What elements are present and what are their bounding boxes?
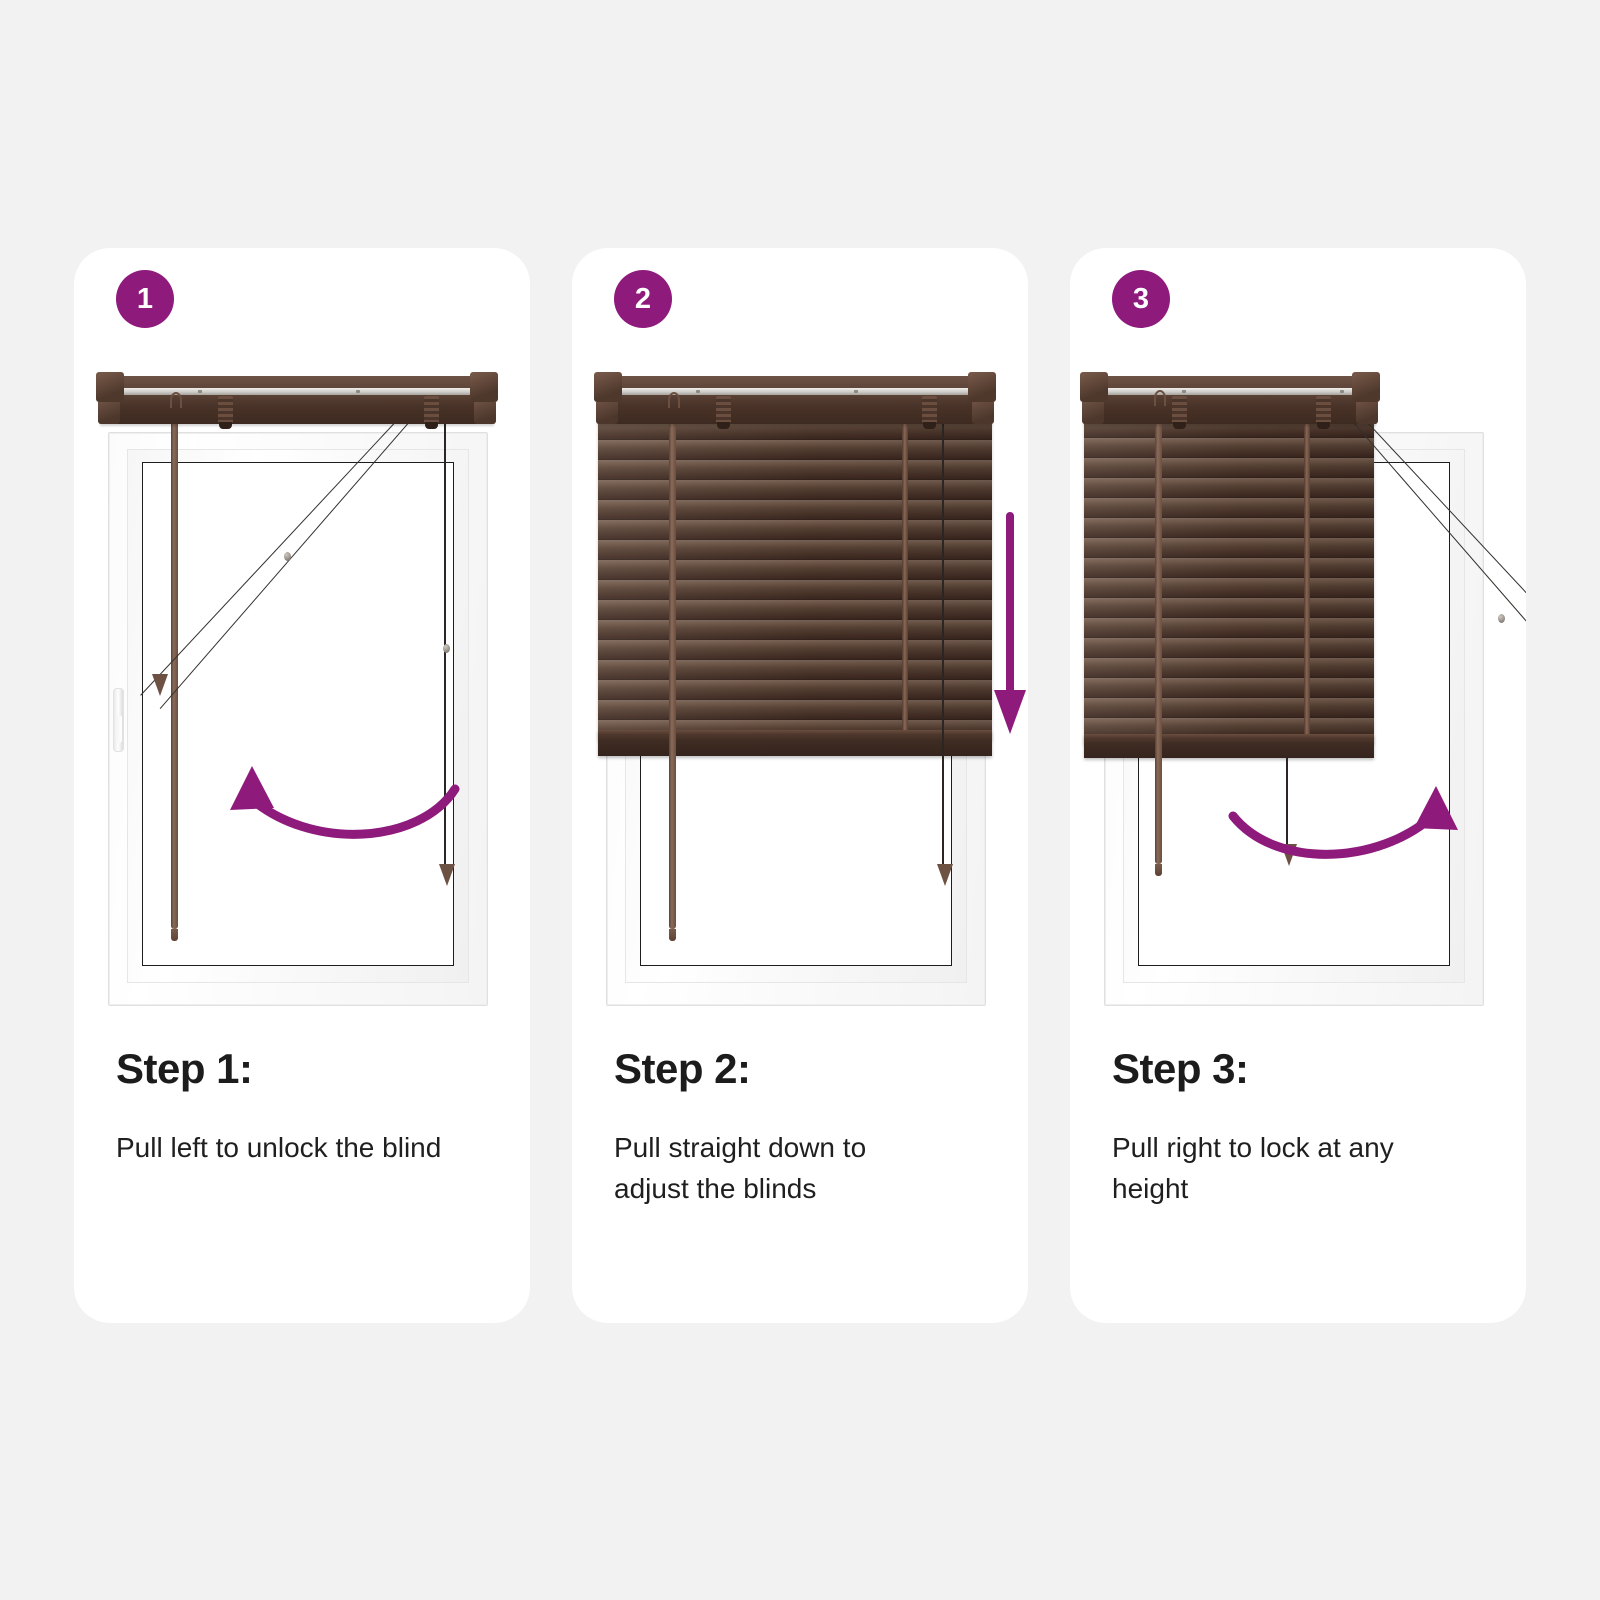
cord-bead-pulled [1498, 614, 1505, 623]
tilt-wand[interactable] [1155, 402, 1162, 864]
step-title: Step 1: [116, 1048, 494, 1090]
step-body: Pull left to unlock the blind [116, 1128, 446, 1169]
arrow-curve-right-icon [1218, 744, 1518, 874]
step-card-3: 3 [1070, 248, 1526, 1323]
arrow-down-icon [990, 512, 1028, 738]
blind-headrail [594, 368, 996, 430]
mounting-bracket-right [922, 396, 937, 423]
mounting-bracket-left [716, 396, 731, 423]
step-body: Pull right to lock at any height [1112, 1128, 1442, 1209]
blind-slats [1084, 398, 1374, 744]
step-title: Step 2: [614, 1048, 992, 1090]
step-badge-1: 1 [116, 270, 174, 328]
caption-step-2: Step 2: Pull straight down to adjust the… [614, 1048, 992, 1209]
tilt-rod [106, 388, 488, 395]
step-badge-3: 3 [1112, 270, 1170, 328]
tilt-wand-tip [1155, 864, 1162, 876]
mounting-bracket-left [218, 396, 233, 423]
tilt-wand-hook [668, 392, 680, 408]
blind-headrail [1080, 368, 1380, 430]
step-title: Step 3: [1112, 1048, 1490, 1090]
ladder-cord-right [1304, 398, 1310, 744]
caption-step-3: Step 3: Pull right to lock at any height [1112, 1048, 1490, 1209]
steps-board: 1 [0, 0, 1600, 1600]
blind-headrail [96, 368, 498, 430]
illustration-step-3 [1070, 344, 1526, 1024]
arrow-curve-left-icon [170, 724, 470, 854]
step-body: Pull straight down to adjust the blinds [614, 1128, 944, 1209]
step-badge-2: 2 [614, 270, 672, 328]
cord-tassel-right [439, 864, 455, 886]
cord-tassel-right [937, 864, 953, 886]
cord-bead [443, 644, 450, 653]
mounting-bracket-left [1172, 396, 1187, 423]
window-sash [127, 449, 469, 983]
tilt-rod [604, 388, 986, 395]
window-frame [108, 432, 488, 1006]
tilt-wand-tip [669, 929, 676, 941]
ladder-cord-right [902, 400, 908, 740]
step-card-2: 2 [572, 248, 1028, 1323]
cord-tassel-pulled [152, 674, 168, 696]
illustration-step-2 [572, 344, 1028, 1024]
illustration-step-1 [74, 344, 530, 1024]
blind-bottom-rail [598, 730, 992, 756]
step-card-1: 1 [74, 248, 530, 1323]
tilt-wand-tip [171, 929, 178, 941]
window-glass [142, 462, 454, 966]
tilt-wand[interactable] [669, 404, 676, 929]
tilt-wand-hook [170, 392, 182, 408]
lift-cord-right[interactable] [942, 396, 944, 866]
mounting-bracket-right [424, 396, 439, 423]
window-handle-icon [113, 688, 124, 752]
caption-step-1: Step 1: Pull left to unlock the blind [116, 1048, 494, 1169]
mounting-bracket-right [1316, 396, 1331, 423]
cord-bead-pulled [284, 552, 291, 561]
tilt-wand-hook [1154, 390, 1166, 406]
blind-slats [598, 400, 992, 740]
